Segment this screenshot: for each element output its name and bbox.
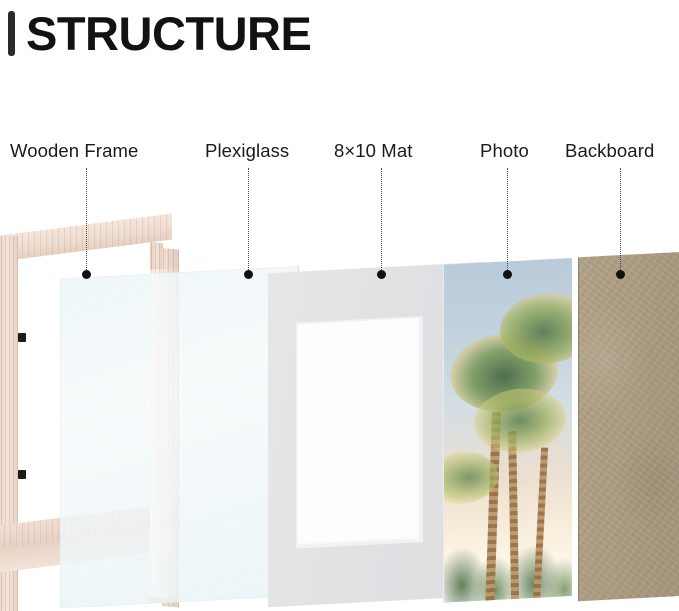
leader-line-wooden-frame — [86, 168, 87, 274]
plexiglass-sheen — [150, 268, 184, 598]
label-mat: 8×10 Mat — [334, 140, 412, 162]
leader-dot-plexiglass — [244, 270, 253, 279]
label-photo: Photo — [480, 140, 529, 162]
label-backboard: Backboard — [565, 140, 654, 162]
leader-line-plexiglass — [248, 168, 249, 274]
exploded-view-diagram — [0, 0, 679, 596]
label-plexiglass: Plexiglass — [205, 140, 289, 162]
mat-window-opening — [298, 318, 421, 546]
leader-line-photo — [507, 168, 508, 274]
frame-clip-lower — [18, 470, 26, 479]
frame-clip-upper — [18, 333, 26, 342]
leader-dot-backboard — [616, 270, 625, 279]
leader-line-mat — [381, 168, 382, 274]
component-photo — [443, 258, 572, 603]
leader-dot-mat — [377, 270, 386, 279]
backboard-texture — [579, 252, 679, 601]
component-backboard — [578, 252, 679, 601]
leader-dot-wooden-frame — [82, 270, 91, 279]
leader-line-backboard — [620, 168, 621, 274]
leader-dot-photo — [503, 270, 512, 279]
label-wooden-frame: Wooden Frame — [10, 140, 138, 162]
